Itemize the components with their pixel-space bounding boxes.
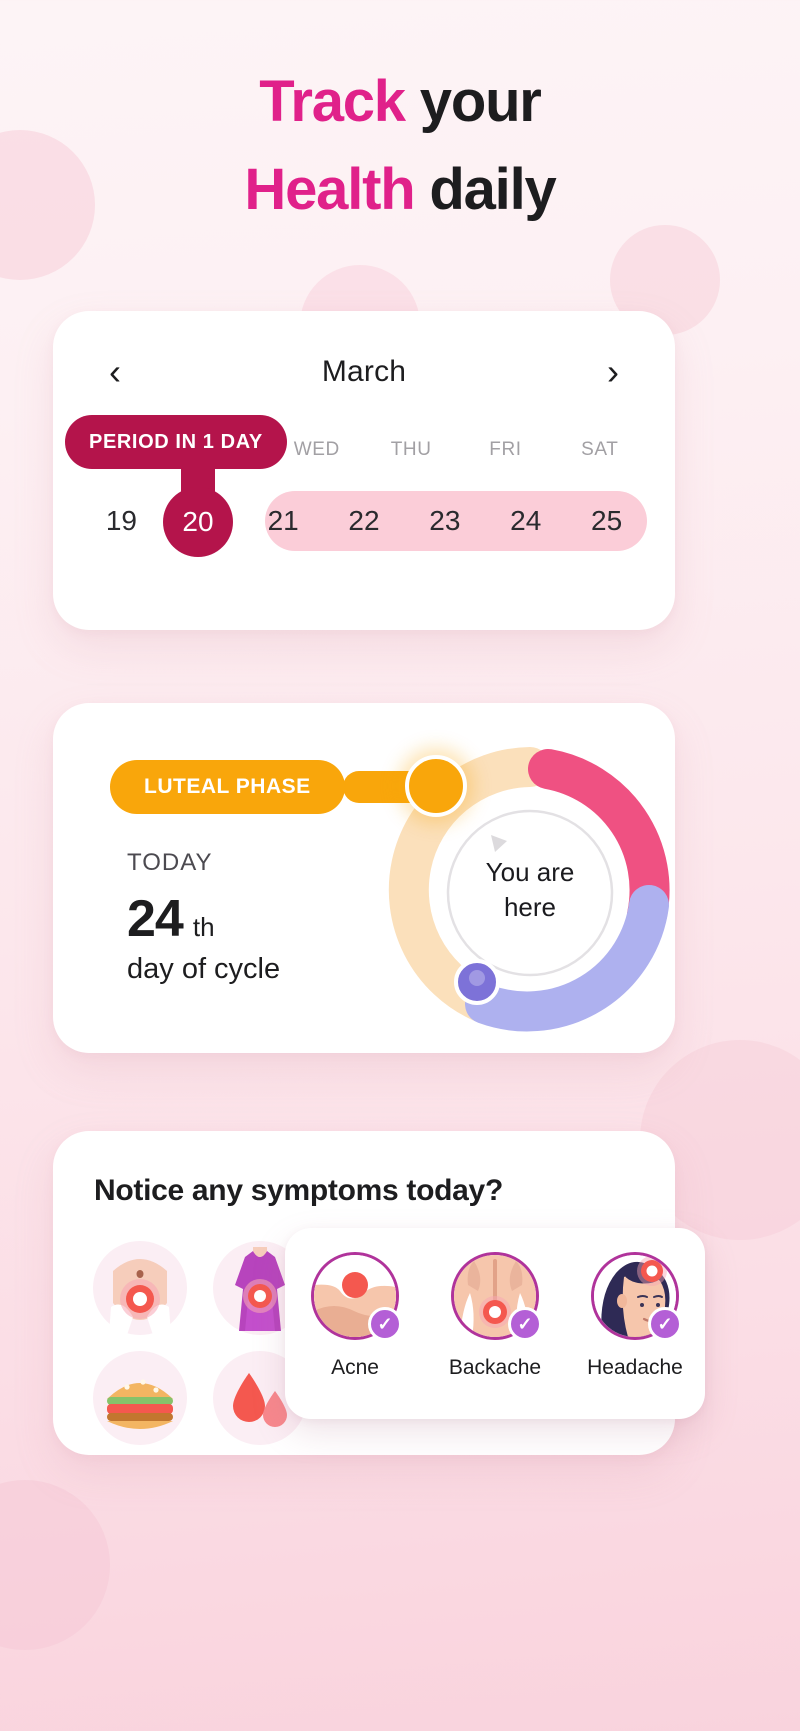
headline-track: Track: [259, 69, 405, 134]
burger-icon[interactable]: [93, 1351, 187, 1445]
calendar-selected-day[interactable]: 20: [163, 487, 233, 557]
page-title: Track your Health daily: [0, 58, 800, 234]
calendar-day-25[interactable]: 25: [566, 491, 647, 551]
chevron-left-icon[interactable]: ‹: [95, 352, 135, 392]
cycle-day-number-group: 24 th: [127, 889, 215, 949]
cycle-day-suffix: th: [193, 912, 215, 943]
cycle-day-number: 24: [127, 889, 183, 949]
calendar-day-22[interactable]: 22: [324, 491, 405, 551]
check-icon[interactable]: ✓: [508, 1307, 542, 1341]
acne-icon[interactable]: ✓: [311, 1252, 399, 1340]
calendar-day-19[interactable]: 19: [81, 491, 162, 551]
headline-line-2: Health daily: [0, 146, 800, 234]
selected-symptoms-panel: ✓ Acne ✓ Backache: [285, 1228, 705, 1419]
cycle-phase-card: You are here LUTEAL PHASE TODAY 24 th da…: [53, 703, 675, 1053]
symptom-label-backache: Backache: [431, 1356, 559, 1380]
calendar-day-21[interactable]: 21: [243, 491, 324, 551]
backache-icon[interactable]: ✓: [451, 1252, 539, 1340]
symptom-item-headache[interactable]: ✓ Headache: [571, 1252, 699, 1380]
ring-marker-dot-purple[interactable]: [454, 959, 500, 1005]
chevron-right-icon[interactable]: ›: [593, 352, 633, 392]
period-countdown-badge[interactable]: PERIOD IN 1 DAY: [65, 415, 287, 469]
check-icon[interactable]: ✓: [368, 1307, 402, 1341]
symptom-item-acne[interactable]: ✓ Acne: [291, 1252, 419, 1380]
today-label: TODAY: [127, 849, 212, 877]
headline-your: your: [405, 69, 541, 134]
check-icon[interactable]: ✓: [648, 1307, 682, 1341]
calendar-month-label: March: [322, 355, 406, 389]
calendar-day-23[interactable]: 23: [404, 491, 485, 551]
weekday-label-fri: FRI: [458, 435, 552, 465]
background-blob: [0, 1480, 110, 1650]
headline-health: Health: [244, 157, 414, 222]
calendar-header: ‹ March ›: [53, 347, 675, 397]
cycle-day-caption: day of cycle: [127, 953, 280, 986]
symptom-item-backache[interactable]: ✓ Backache: [431, 1252, 559, 1380]
weekday-label-sat: SAT: [553, 435, 647, 465]
ring-inner-circle: [448, 811, 612, 975]
headline-line-1: Track your: [0, 58, 800, 146]
headline-daily: daily: [414, 157, 555, 222]
calendar-day-24[interactable]: 24: [485, 491, 566, 551]
symptom-label-headache: Headache: [571, 1356, 699, 1380]
symptom-label-acne: Acne: [291, 1356, 419, 1380]
phase-badge[interactable]: LUTEAL PHASE: [110, 760, 345, 814]
cramps-icon[interactable]: [93, 1241, 187, 1335]
ring-marker-dot-orange[interactable]: [405, 755, 467, 817]
headache-icon[interactable]: ✓: [591, 1252, 679, 1340]
symptoms-title: Notice any symptoms today?: [94, 1174, 503, 1208]
weekday-label-thu: THU: [364, 435, 458, 465]
calendar-card: ‹ March › WED THU FRI SAT 19 21 22 23 24…: [53, 311, 675, 630]
